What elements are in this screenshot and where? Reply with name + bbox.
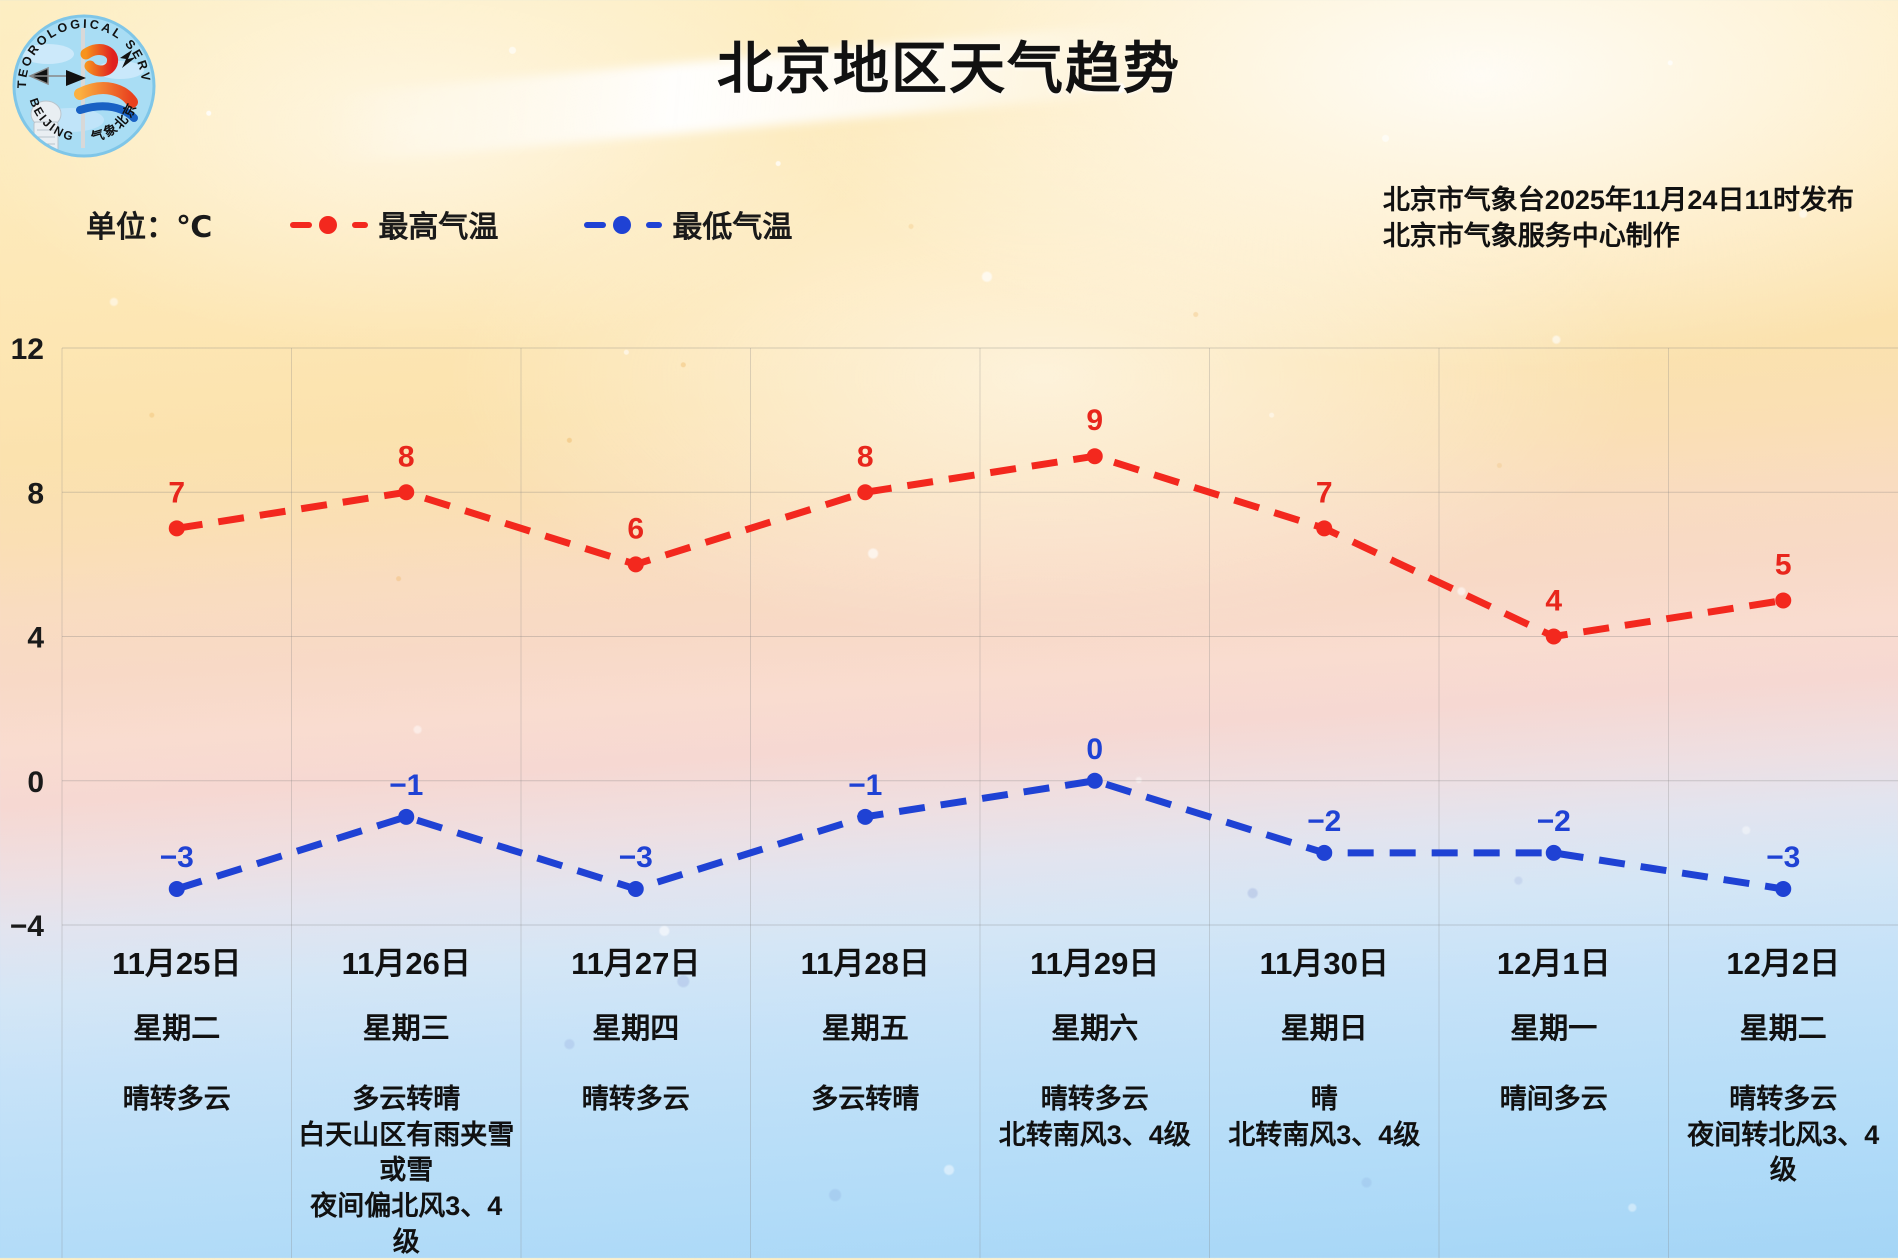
day-weather-description: 多云转晴白天山区有雨夹雪或雪夜间偏北风3、4级 bbox=[298, 1082, 516, 1260]
data-point-min bbox=[628, 881, 644, 897]
day-column: 12月1日星期一晴间多云 bbox=[1439, 948, 1669, 1260]
y-axis-tick-label: 8 bbox=[27, 477, 44, 510]
day-column: 11月26日星期三多云转晴白天山区有雨夹雪或雪夜间偏北风3、4级 bbox=[292, 948, 522, 1260]
day-weather-line: 晴 bbox=[1216, 1082, 1434, 1118]
day-weather-line: 晴间多云 bbox=[1445, 1082, 1663, 1118]
day-date: 11月28日 bbox=[757, 948, 975, 979]
data-label-min: −2 bbox=[1537, 805, 1571, 838]
day-column: 11月29日星期六晴转多云北转南风3、4级 bbox=[980, 948, 1210, 1260]
data-label-min: −1 bbox=[848, 769, 882, 802]
day-date: 11月26日 bbox=[298, 948, 516, 979]
day-weekday: 星期二 bbox=[1675, 1015, 1893, 1044]
day-weekday: 星期四 bbox=[527, 1015, 745, 1044]
day-date: 11月29日 bbox=[986, 948, 1204, 979]
day-weather-description: 晴转多云 bbox=[68, 1082, 286, 1118]
data-point-max bbox=[1775, 592, 1791, 608]
day-weather-line: 夜间偏北风3、4级 bbox=[298, 1189, 516, 1260]
day-weather-line: 晴转多云 bbox=[1675, 1082, 1893, 1118]
day-weather-line: 夜间转北风3、4级 bbox=[1675, 1118, 1893, 1189]
data-point-max bbox=[169, 520, 185, 536]
data-point-min bbox=[1775, 881, 1791, 897]
data-point-min bbox=[1546, 845, 1562, 861]
data-label-min: −2 bbox=[1307, 805, 1341, 838]
data-point-min bbox=[169, 881, 185, 897]
day-weather-description: 多云转晴 bbox=[757, 1082, 975, 1118]
day-weekday: 星期六 bbox=[986, 1015, 1204, 1044]
day-forecast-table: 11月25日星期二晴转多云11月26日星期三多云转晴白天山区有雨夹雪或雪夜间偏北… bbox=[62, 948, 1898, 1260]
day-weather-description: 晴间多云 bbox=[1445, 1082, 1663, 1118]
data-label-max: 8 bbox=[398, 440, 415, 473]
data-point-max bbox=[628, 556, 644, 572]
data-point-max bbox=[1087, 448, 1103, 464]
day-weekday: 星期一 bbox=[1445, 1015, 1663, 1044]
day-date: 11月30日 bbox=[1216, 948, 1434, 979]
y-axis-tick-label: 0 bbox=[27, 766, 44, 799]
y-axis-tick-label: −4 bbox=[10, 910, 45, 943]
data-label-max: 9 bbox=[1086, 404, 1103, 437]
day-column: 11月28日星期五多云转晴 bbox=[751, 948, 981, 1260]
day-weekday: 星期五 bbox=[757, 1015, 975, 1044]
data-point-max bbox=[857, 484, 873, 500]
data-label-min: 0 bbox=[1086, 733, 1103, 766]
data-label-max: 6 bbox=[627, 512, 644, 545]
day-weekday: 星期三 bbox=[298, 1015, 516, 1044]
data-point-max bbox=[1546, 629, 1562, 645]
day-weather-description: 晴北转南风3、4级 bbox=[1216, 1082, 1434, 1153]
data-label-min: −3 bbox=[1766, 841, 1800, 874]
data-point-min bbox=[857, 809, 873, 825]
data-point-max bbox=[1316, 520, 1332, 536]
day-date: 12月2日 bbox=[1675, 948, 1893, 979]
day-weekday: 星期二 bbox=[68, 1015, 286, 1044]
day-column: 11月27日星期四晴转多云 bbox=[521, 948, 751, 1260]
data-point-min bbox=[1316, 845, 1332, 861]
y-axis-tick-label: 12 bbox=[11, 333, 44, 366]
data-label-min: −3 bbox=[619, 841, 653, 874]
day-weather-description: 晴转多云北转南风3、4级 bbox=[986, 1082, 1204, 1153]
data-label-max: 7 bbox=[168, 476, 185, 509]
data-label-max: 7 bbox=[1316, 476, 1333, 509]
y-axis-tick-label: 4 bbox=[27, 622, 44, 655]
day-weather-line: 多云转晴 bbox=[298, 1082, 516, 1118]
day-weather-description: 晴转多云夜间转北风3、4级 bbox=[1675, 1082, 1893, 1189]
data-label-min: −1 bbox=[389, 769, 423, 802]
day-weather-line: 北转南风3、4级 bbox=[1216, 1118, 1434, 1154]
day-weather-description: 晴转多云 bbox=[527, 1082, 745, 1118]
day-weather-line: 晴转多云 bbox=[986, 1082, 1204, 1118]
data-label-max: 8 bbox=[857, 440, 874, 473]
day-date: 11月27日 bbox=[527, 948, 745, 979]
day-weather-line: 白天山区有雨夹雪或雪 bbox=[298, 1118, 516, 1189]
day-date: 11月25日 bbox=[68, 948, 286, 979]
data-label-min: −3 bbox=[160, 841, 194, 874]
day-weather-line: 晴转多云 bbox=[68, 1082, 286, 1118]
day-column: 11月25日星期二晴转多云 bbox=[62, 948, 292, 1260]
day-weather-line: 多云转晴 bbox=[757, 1082, 975, 1118]
data-label-max: 5 bbox=[1775, 548, 1792, 581]
data-point-min bbox=[398, 809, 414, 825]
data-point-min bbox=[1087, 773, 1103, 789]
day-weekday: 星期日 bbox=[1216, 1015, 1434, 1044]
day-column: 11月30日星期日晴北转南风3、4级 bbox=[1210, 948, 1440, 1260]
day-date: 12月1日 bbox=[1445, 948, 1663, 979]
day-weather-line: 晴转多云 bbox=[527, 1082, 745, 1118]
data-point-max bbox=[398, 484, 414, 500]
data-label-max: 4 bbox=[1545, 585, 1562, 618]
day-column: 12月2日星期二晴转多云夜间转北风3、4级 bbox=[1669, 948, 1898, 1260]
day-weather-line: 北转南风3、4级 bbox=[986, 1118, 1204, 1154]
